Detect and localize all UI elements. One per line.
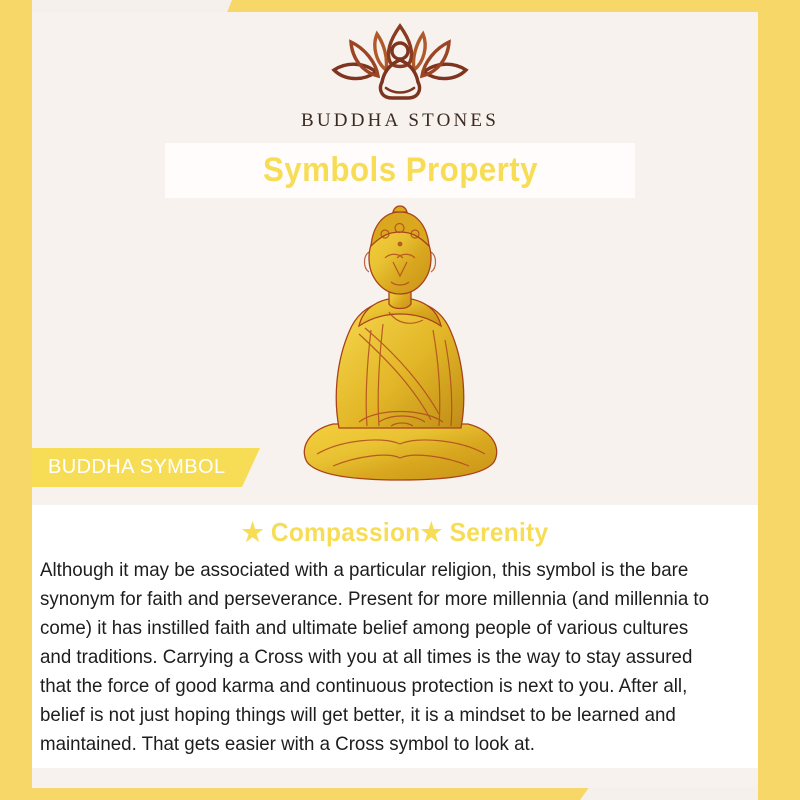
section-label-text: BUDDHA SYMBOL: [48, 456, 225, 479]
article-panel: ★ Compassion★ Serenity Although it may b…: [32, 505, 758, 768]
title-banner: Symbols Property: [165, 143, 635, 198]
page-title: Symbols Property: [262, 151, 537, 190]
golden-buddha-statue-icon: [293, 200, 508, 490]
buddha-illustration: [0, 200, 800, 490]
section-label-badge: BUDDHA SYMBOL: [32, 448, 260, 487]
brand-name: BUDDHA STONES: [301, 110, 499, 132]
article-headline: ★ Compassion★ Serenity: [54, 517, 736, 548]
lotus-meditation-icon: [320, 18, 480, 104]
brand-logo: BUDDHA STONES: [0, 18, 800, 132]
poster-canvas: BUDDHA STONES Symbols Property: [0, 0, 800, 800]
article-body: Although it may be associated with a par…: [40, 556, 722, 759]
